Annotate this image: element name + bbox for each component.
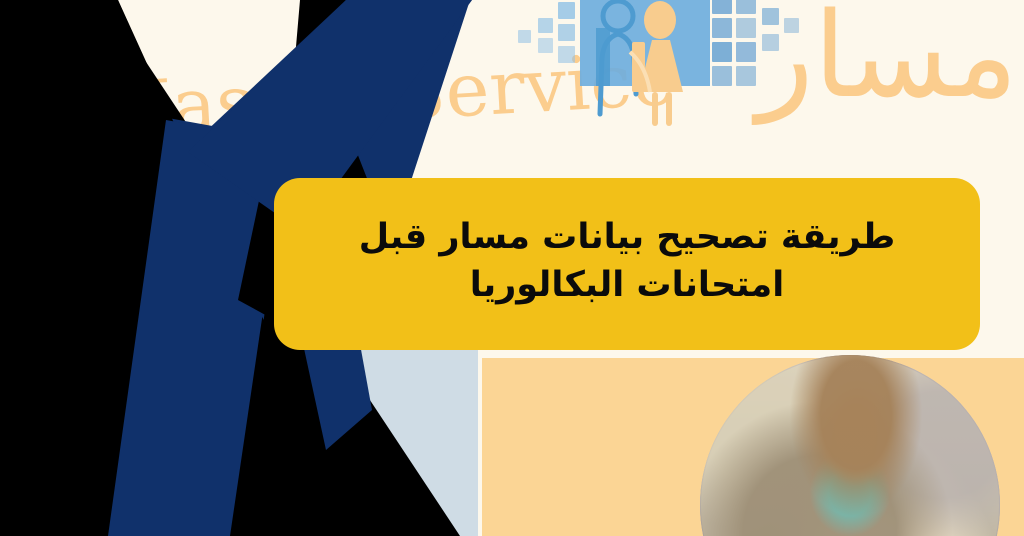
- banner-title-text: طريقة تصحيح بيانات مسار قبل امتحانات الب…: [308, 213, 946, 310]
- exam-student-photo: [700, 355, 1000, 536]
- title-banner: طريقة تصحيح بيانات مسار قبل امتحانات الب…: [274, 178, 980, 350]
- banner-canvas: Massar Service: [0, 0, 1024, 536]
- stressed-student-photo: [0, 278, 256, 536]
- photo-right-overlay: [700, 355, 1000, 536]
- photo-left-overlay: [0, 278, 256, 536]
- massar-logo-wordmark: مسار: [757, 0, 1018, 114]
- massar-logo: مسار: [498, 0, 1024, 144]
